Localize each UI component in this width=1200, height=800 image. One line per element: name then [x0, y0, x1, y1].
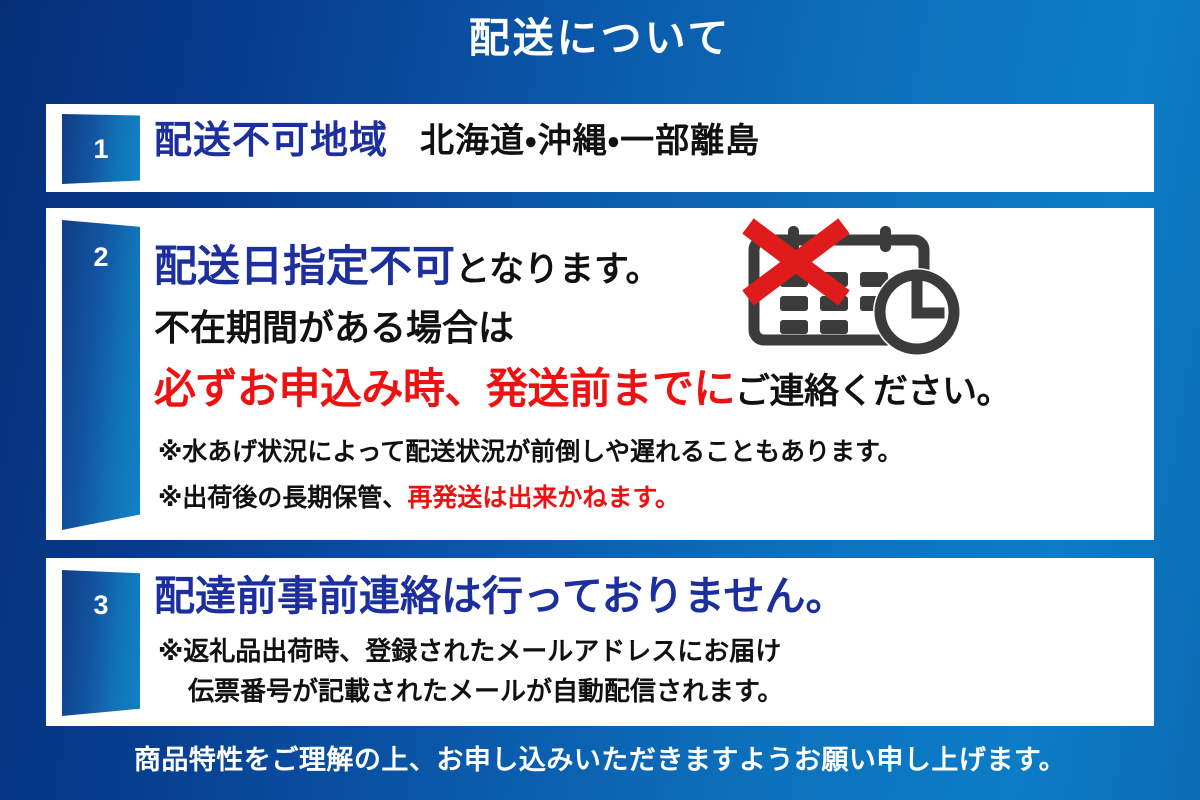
section-3-heading: 配達前事前連絡は行っておりません。	[154, 576, 847, 617]
section-number-badge-1: 1	[62, 114, 140, 184]
section-2-note-1: ※水あげ状況によって配送状況が前倒しや遅れることもあります。	[158, 440, 903, 465]
page-title: 配送について	[0, 14, 1200, 62]
section-2-contact-request: ご連絡ください。	[735, 372, 1011, 411]
section-card-1: 1 配送不可地域北海道・沖縄・一部離島	[46, 104, 1154, 192]
section-2-line-1: 配送日指定不可となります。	[154, 246, 660, 289]
shipping-info-poster: 配送について 1 配送不可地域北海道・沖縄・一部離島 2 配送日指定不可となりま…	[0, 0, 1200, 800]
footer-note: 商品特性をご理解の上、お申し込みいただきますようお願い申し上げます。	[0, 738, 1200, 777]
section-1-content: 配送不可地域北海道・沖縄・一部離島	[154, 122, 760, 160]
section-2-no-date-designation: 配送日指定不可	[154, 243, 455, 291]
section-2-line-3: 必ずお申込み時、発送前までにご連絡ください。	[154, 368, 1011, 410]
section-card-3: 3 配達前事前連絡は行っておりません。 ※返礼品出荷時、登録されたメールアドレス…	[46, 558, 1154, 726]
calendar-clock-disabled-icon	[736, 216, 988, 356]
section-3-note-1: ※返礼品出荷時、登録されたメールアドレスにお届け	[158, 638, 781, 664]
section-2-note-2: ※出荷後の長期保管、再発送は出来かねます。	[158, 486, 680, 511]
section-2-contact-deadline-alert: 必ずお申込み時、発送前までに	[154, 365, 735, 412]
section-card-2: 2 配送日指定不可となります。 不在期間がある場合は 必ずお申込み時、発送前まで…	[46, 208, 1154, 540]
section-number-badge-2: 2	[62, 220, 140, 530]
section-1-regions: 北海道・沖縄・一部離島	[420, 122, 760, 160]
section-1-heading: 配送不可地域	[154, 120, 388, 162]
section-3-note-2: 伝票番号が記載されたメールが自動配信されます。	[188, 678, 783, 704]
section-2-line-1-suffix: となります。	[455, 250, 660, 289]
section-2-line-2: 不在期間がある場合は	[154, 310, 514, 346]
section-number-badge-3: 3	[62, 570, 140, 716]
calendar-post-right-icon	[880, 226, 891, 252]
section-2-note-2-alert: 再発送は出来かねます。	[407, 484, 680, 512]
section-2-note-2-prefix: ※出荷後の長期保管、	[158, 484, 407, 512]
